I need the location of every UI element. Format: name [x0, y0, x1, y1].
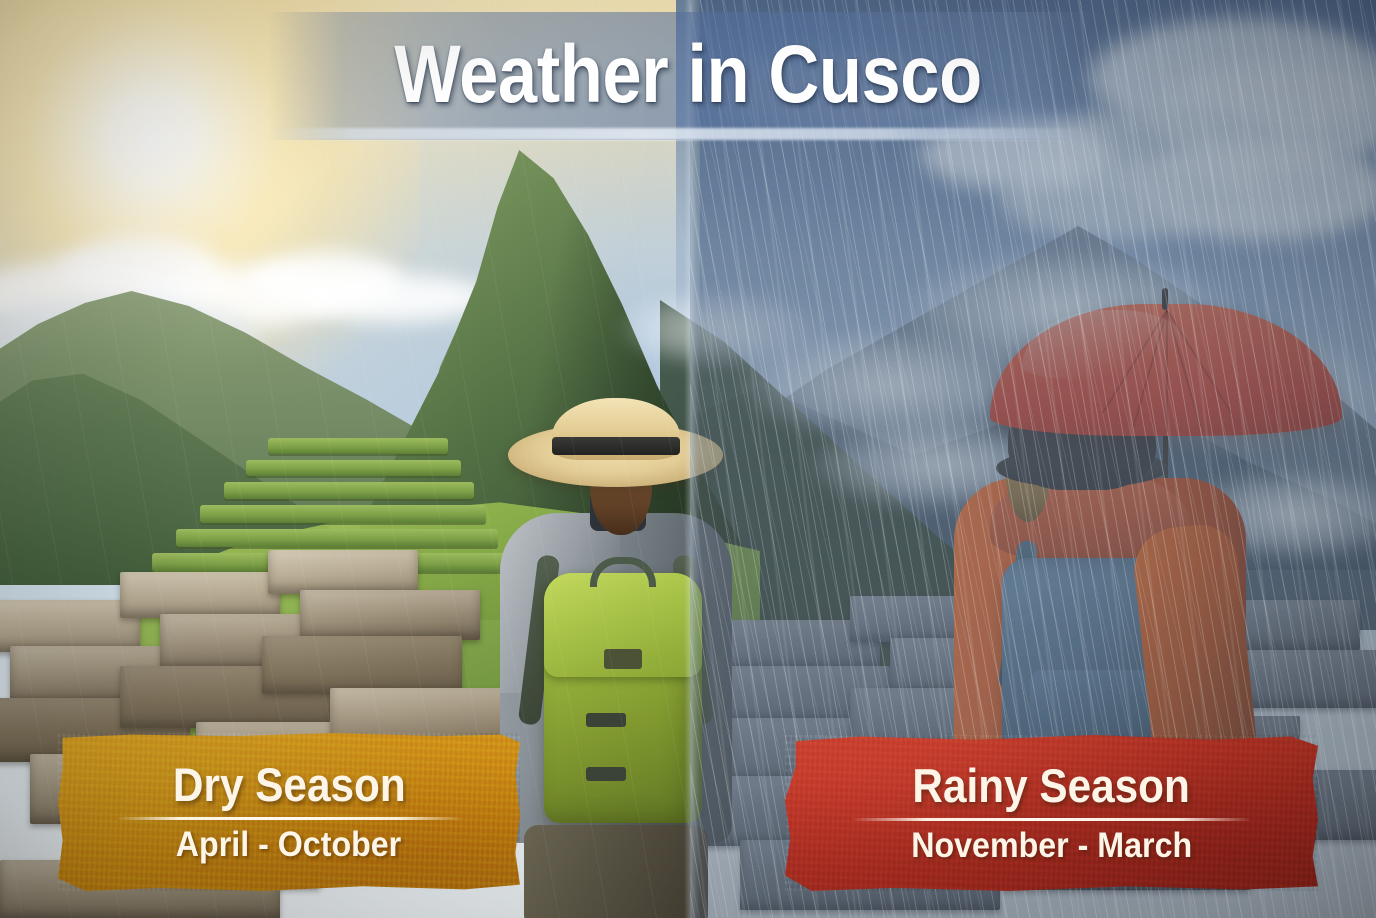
rainy-season-months: November - March — [911, 827, 1192, 865]
dry-season-banner[interactable]: Dry Season April - October — [58, 733, 520, 891]
page-title: Weather in Cusco — [96, 32, 1279, 118]
dry-banner-texture — [58, 733, 520, 891]
dry-season-divider — [118, 817, 460, 820]
rainy-season-title: Rainy Season — [913, 761, 1190, 811]
title-underline — [268, 128, 1094, 140]
rainy-season-divider — [854, 818, 1248, 821]
rainy-season-banner[interactable]: Rainy Season November - March — [785, 735, 1318, 891]
dry-season-title: Dry Season — [173, 760, 406, 810]
dry-season-months: April - October — [176, 826, 401, 864]
weather-poster: Weather in Cusco Dry Season April - Octo… — [0, 0, 1376, 918]
